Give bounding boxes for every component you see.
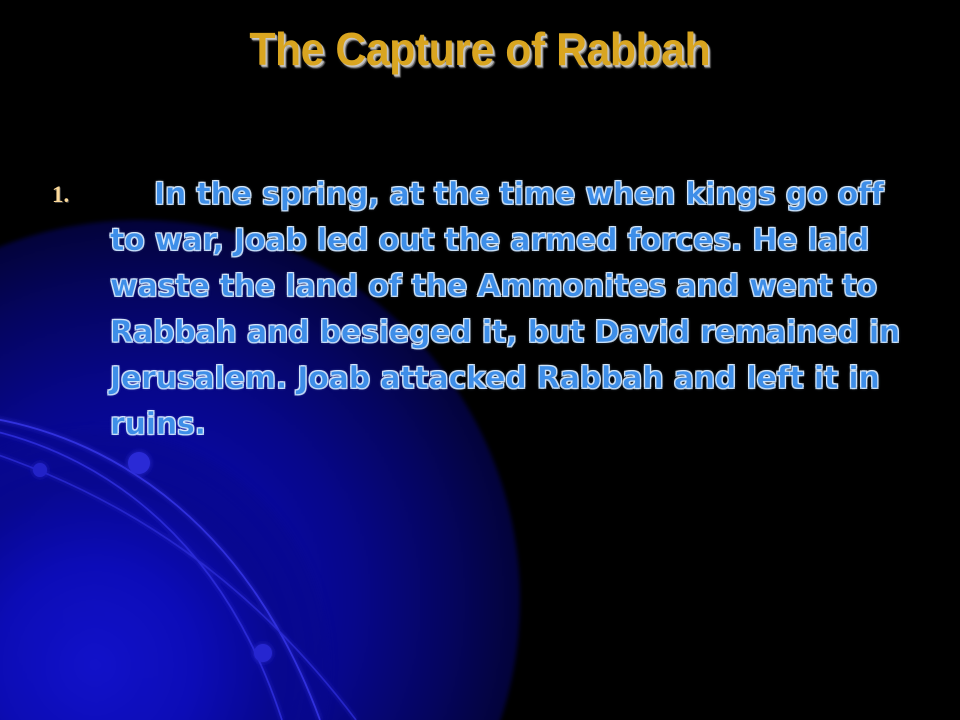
presentation-slide: The Capture of Rabbah 1. In the spring, … <box>0 0 960 720</box>
arc-dot-group <box>33 452 272 662</box>
arc-group <box>0 418 356 720</box>
arc-dot-small <box>33 463 47 477</box>
title-placeholder: The Capture of Rabbah <box>0 22 960 76</box>
blue-corner-glow-inner <box>0 430 330 720</box>
list-item: 1. In the spring, at the time when kings… <box>52 172 922 448</box>
arc-dot-large <box>128 452 150 474</box>
arc-dot-medium <box>254 644 272 662</box>
content-placeholder: 1. In the spring, at the time when kings… <box>52 172 922 448</box>
arc-line-1 <box>0 418 320 720</box>
list-item-number: 1. <box>52 172 110 218</box>
list-item-text: In the spring, at the time when kings go… <box>110 172 922 448</box>
arc-line-3 <box>0 452 356 720</box>
page-title: The Capture of Rabbah <box>250 22 711 76</box>
arc-line-2 <box>0 430 282 720</box>
